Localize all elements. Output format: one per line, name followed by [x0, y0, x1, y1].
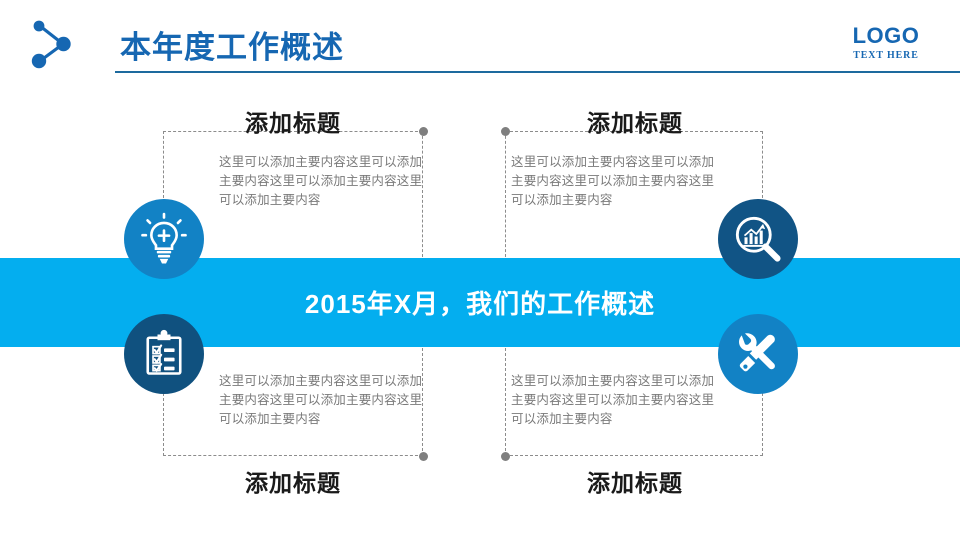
network-share-icon	[22, 16, 78, 72]
header-divider	[115, 71, 960, 73]
slide-header: 本年度工作概述 LOGO TEXT HERE	[0, 0, 960, 80]
panel-body-top-left: 这里可以添加主要内容这里可以添加主要内容这里可以添加主要内容这里可以添加主要内容	[219, 153, 425, 210]
page-title: 本年度工作概述	[120, 22, 344, 67]
panel-title-top-left: 添加标题	[163, 104, 423, 138]
panel-body-bottom-left: 这里可以添加主要内容这里可以添加主要内容这里可以添加主要内容这里可以添加主要内容	[219, 372, 425, 429]
lightbulb-plus-icon[interactable]	[124, 199, 204, 279]
panel-body-bottom-right: 这里可以添加主要内容这里可以添加主要内容这里可以添加主要内容这里可以添加主要内容	[511, 372, 717, 429]
magnifier-bar-chart-icon[interactable]	[718, 199, 798, 279]
logo: LOGO TEXT HERE	[826, 24, 946, 61]
logo-text: LOGO	[826, 24, 946, 47]
panel-title-bottom-left: 添加标题	[163, 464, 423, 498]
logo-subtext: TEXT HERE	[832, 49, 940, 61]
wrench-screwdriver-icon[interactable]	[718, 314, 798, 394]
clipboard-checklist-icon[interactable]	[124, 314, 204, 394]
highlight-band-text: 2015年X月，我们的工作概述	[0, 284, 960, 321]
panel-body-top-right: 这里可以添加主要内容这里可以添加主要内容这里可以添加主要内容这里可以添加主要内容	[511, 153, 717, 210]
connector-dot-bottom-left	[419, 452, 428, 461]
panel-title-bottom-right: 添加标题	[505, 464, 765, 498]
panel-title-top-right: 添加标题	[505, 104, 765, 138]
connector-dot-bottom-right	[501, 452, 510, 461]
